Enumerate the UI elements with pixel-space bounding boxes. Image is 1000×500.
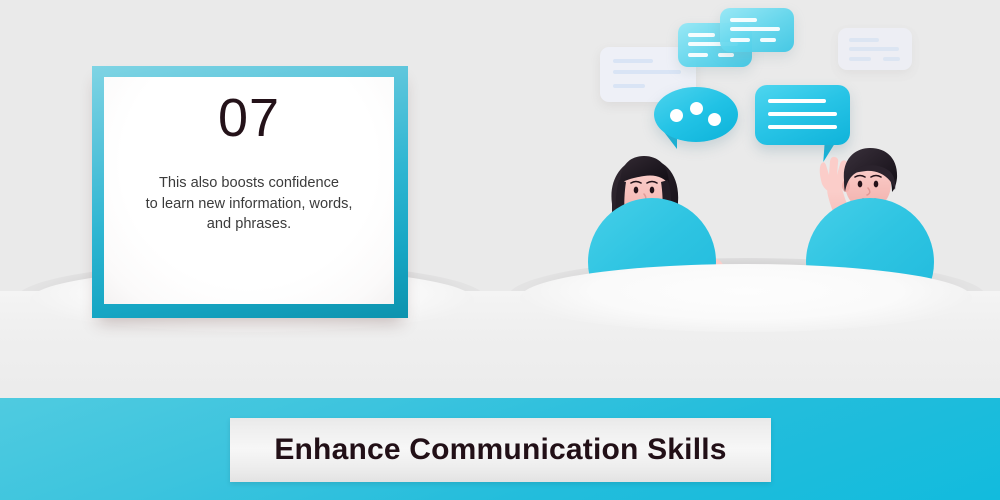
bubble-line bbox=[768, 125, 837, 129]
banner-title-box[interactable]: Enhance Communication Skills bbox=[230, 418, 771, 482]
man-eye-left bbox=[858, 181, 863, 188]
bubble-dots bbox=[654, 87, 738, 142]
bubble-line bbox=[730, 27, 780, 31]
bubble-line bbox=[760, 38, 776, 42]
number-card[interactable]: 07 This also boosts confidence to learn … bbox=[92, 66, 408, 318]
bubble-line bbox=[730, 18, 757, 22]
slide-stage: 07 This also boosts confidence to learn … bbox=[0, 0, 1000, 500]
bubble-line bbox=[688, 53, 708, 57]
bubble-dot-icon bbox=[670, 109, 683, 122]
banner-title: Enhance Communication Skills bbox=[274, 433, 726, 467]
bubble-line bbox=[718, 53, 734, 57]
card-face: 07 This also boosts confidence to learn … bbox=[104, 77, 394, 304]
bubble-line bbox=[730, 38, 750, 42]
bubble-dot-icon bbox=[690, 102, 703, 115]
bubble-line bbox=[768, 112, 837, 116]
woman-eye-left bbox=[634, 187, 639, 194]
illustration-two-people-talking bbox=[560, 0, 1000, 340]
bubble-line bbox=[849, 38, 879, 42]
bubble-line bbox=[613, 59, 653, 63]
bubble-line bbox=[688, 33, 715, 37]
bubble-line bbox=[883, 57, 900, 61]
man-eye-right bbox=[874, 181, 879, 188]
woman-eye-right bbox=[650, 187, 655, 194]
card-body-text: This also boosts confidence to learn new… bbox=[112, 173, 386, 235]
bubble-dot-icon bbox=[708, 113, 721, 126]
bubble-solid-lines bbox=[755, 85, 850, 145]
bubble-line bbox=[768, 99, 826, 103]
bubble-cyan-upper bbox=[720, 8, 794, 52]
bubble-line bbox=[849, 47, 899, 51]
card-frame: 07 This also boosts confidence to learn … bbox=[92, 66, 408, 318]
bubble-pale-right bbox=[838, 28, 912, 70]
bubble-line bbox=[613, 84, 645, 88]
bubble-line bbox=[849, 57, 871, 61]
card-number: 07 bbox=[104, 91, 394, 145]
bubble-line bbox=[613, 70, 681, 74]
